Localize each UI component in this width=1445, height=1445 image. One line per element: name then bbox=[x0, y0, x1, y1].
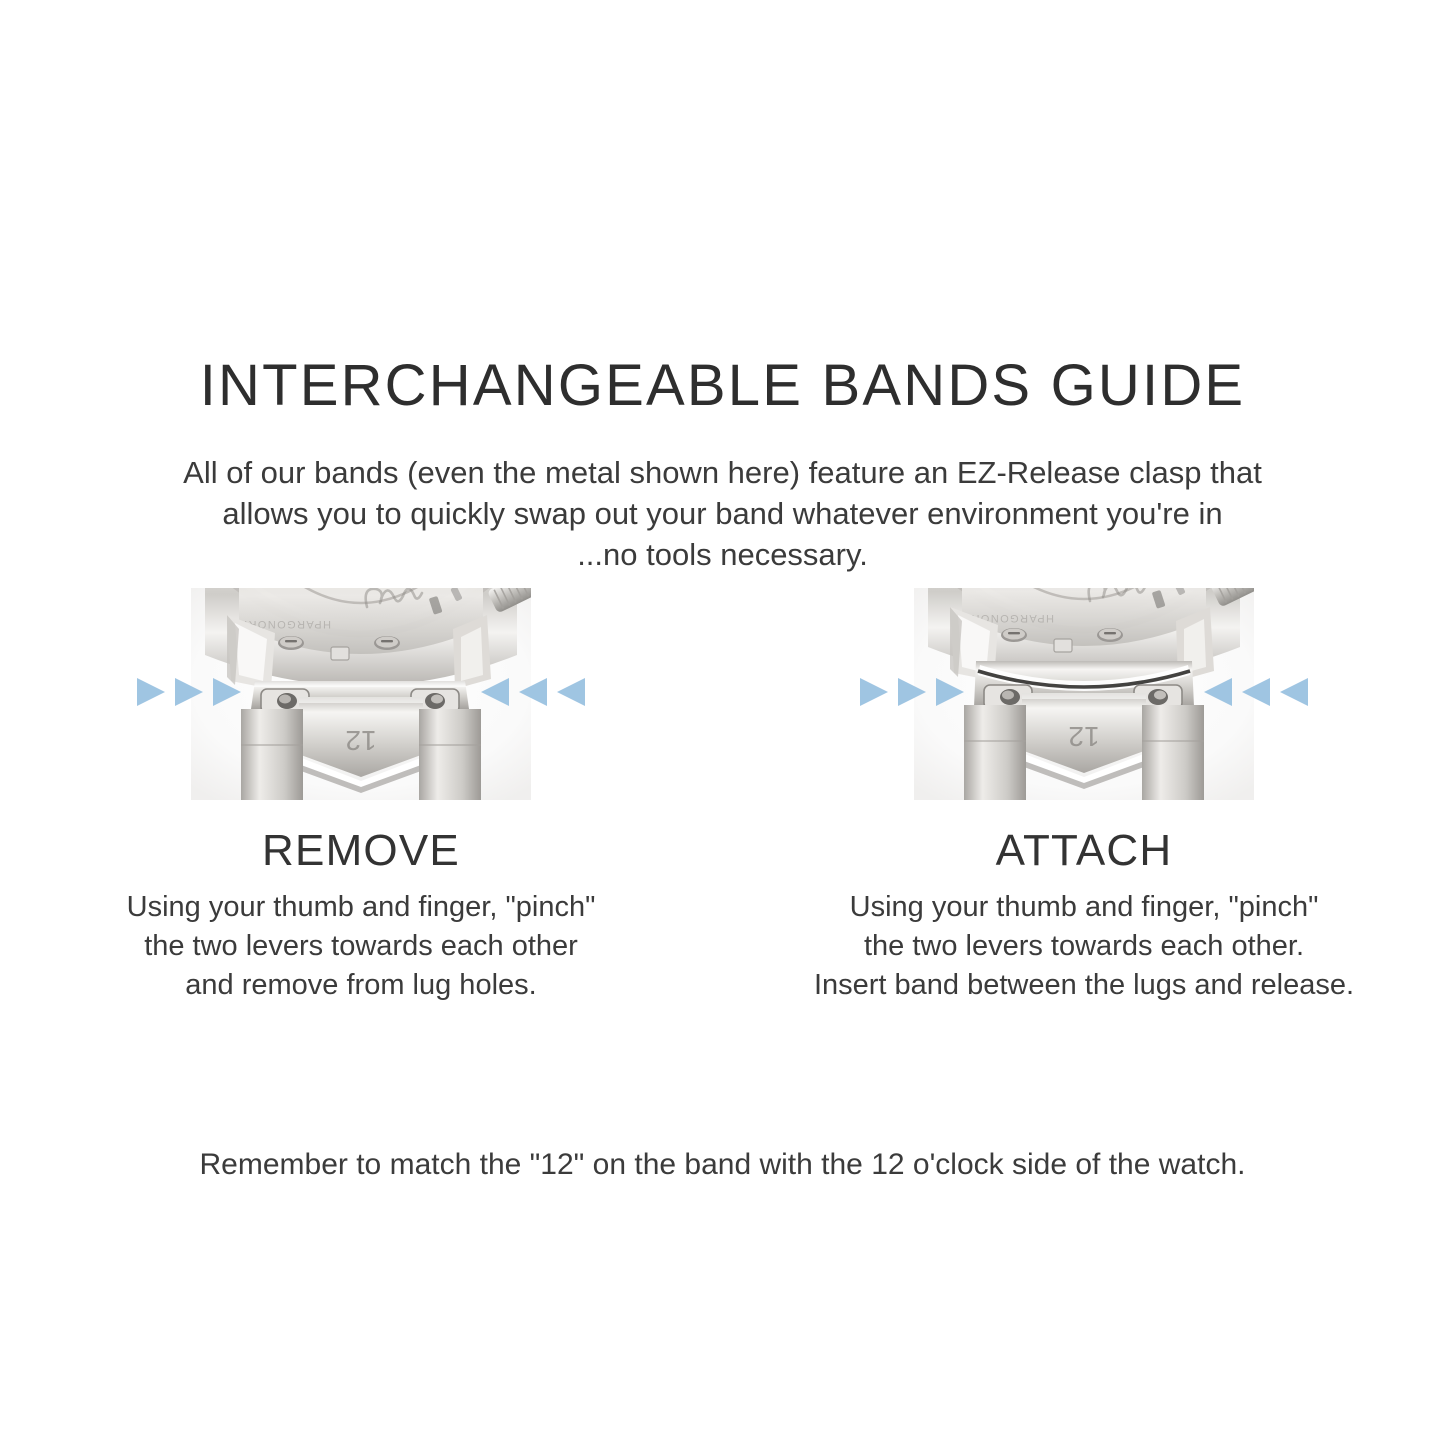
bands-guide-page: INTERCHANGEABLE BANDS GUIDE All of our b… bbox=[0, 0, 1445, 1445]
intro-line-1: All of our bands (even the metal shown h… bbox=[120, 452, 1325, 493]
remove-caption-line-1: Using your thumb and finger, "pinch" bbox=[0, 888, 722, 927]
intro-line-2: allows you to quickly swap out your band… bbox=[120, 493, 1325, 534]
step-heading-remove: REMOVE bbox=[0, 826, 722, 876]
attach-caption-line-3: Insert band between the lugs and release… bbox=[723, 966, 1445, 1005]
step-caption-attach: Using your thumb and finger, "pinch" the… bbox=[723, 888, 1445, 1005]
footer-note: Remember to match the "12" on the band w… bbox=[0, 1148, 1445, 1182]
step-panel-attach: HPARGONORHC bbox=[723, 585, 1445, 1005]
attach-caption-line-2: the two levers towards each other. bbox=[723, 927, 1445, 966]
steps-container: HPARGONORHC bbox=[0, 585, 1445, 1005]
intro-line-3: ...no tools necessary. bbox=[120, 534, 1325, 575]
band-12-marking-remove: 12 bbox=[345, 725, 376, 756]
intro-paragraph: All of our bands (even the metal shown h… bbox=[120, 452, 1325, 575]
page-title: INTERCHANGEABLE BANDS GUIDE bbox=[0, 352, 1445, 419]
attach-caption-line-1: Using your thumb and finger, "pinch" bbox=[723, 888, 1445, 927]
step-panel-remove: HPARGONORHC bbox=[0, 585, 722, 1005]
watch-photo-attach: HPARGONORHC bbox=[858, 585, 1310, 800]
step-caption-remove: Using your thumb and finger, "pinch" the… bbox=[0, 888, 722, 1005]
remove-caption-line-3: and remove from lug holes. bbox=[0, 966, 722, 1005]
band-12-marking-attach: 12 bbox=[1068, 721, 1099, 752]
remove-caption-line-2: the two levers towards each other bbox=[0, 927, 722, 966]
step-heading-attach: ATTACH bbox=[723, 826, 1445, 876]
watch-photo-remove: HPARGONORHC bbox=[135, 585, 587, 800]
